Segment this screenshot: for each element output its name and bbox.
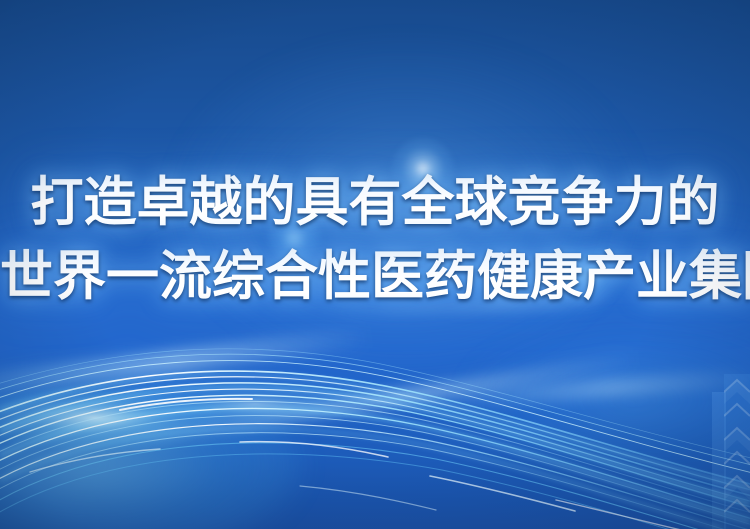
chevron-tower-icon — [724, 374, 750, 529]
light-beam-left — [0, 326, 370, 400]
light-beam-center — [122, 351, 638, 448]
promo-banner: 打造卓越的具有全球竞争力的 世界一流综合性医药健康产业集团 — [0, 0, 750, 529]
center-glow — [170, 40, 640, 370]
light-beam-right — [430, 369, 750, 410]
headline-block: 打造卓越的具有全球竞争力的 世界一流综合性医药健康产业集团 — [0, 170, 750, 310]
lower-right-glow — [470, 330, 750, 470]
vignette-overlay — [0, 0, 750, 529]
headline-line-2: 世界一流综合性医药健康产业集团 — [0, 244, 750, 310]
light-beam-upper — [330, 292, 630, 320]
lower-left-glow — [0, 370, 300, 529]
tower-slab — [712, 392, 726, 529]
light-streaks — [0, 300, 750, 529]
lens-flare-spark-tertiary-icon — [552, 246, 622, 302]
lens-flare-spark-icon — [392, 138, 454, 200]
light-streaks-glow — [0, 300, 750, 529]
headline-line-1: 打造卓越的具有全球竞争力的 — [0, 170, 750, 236]
lens-flare-spark-secondary-icon — [268, 212, 320, 264]
